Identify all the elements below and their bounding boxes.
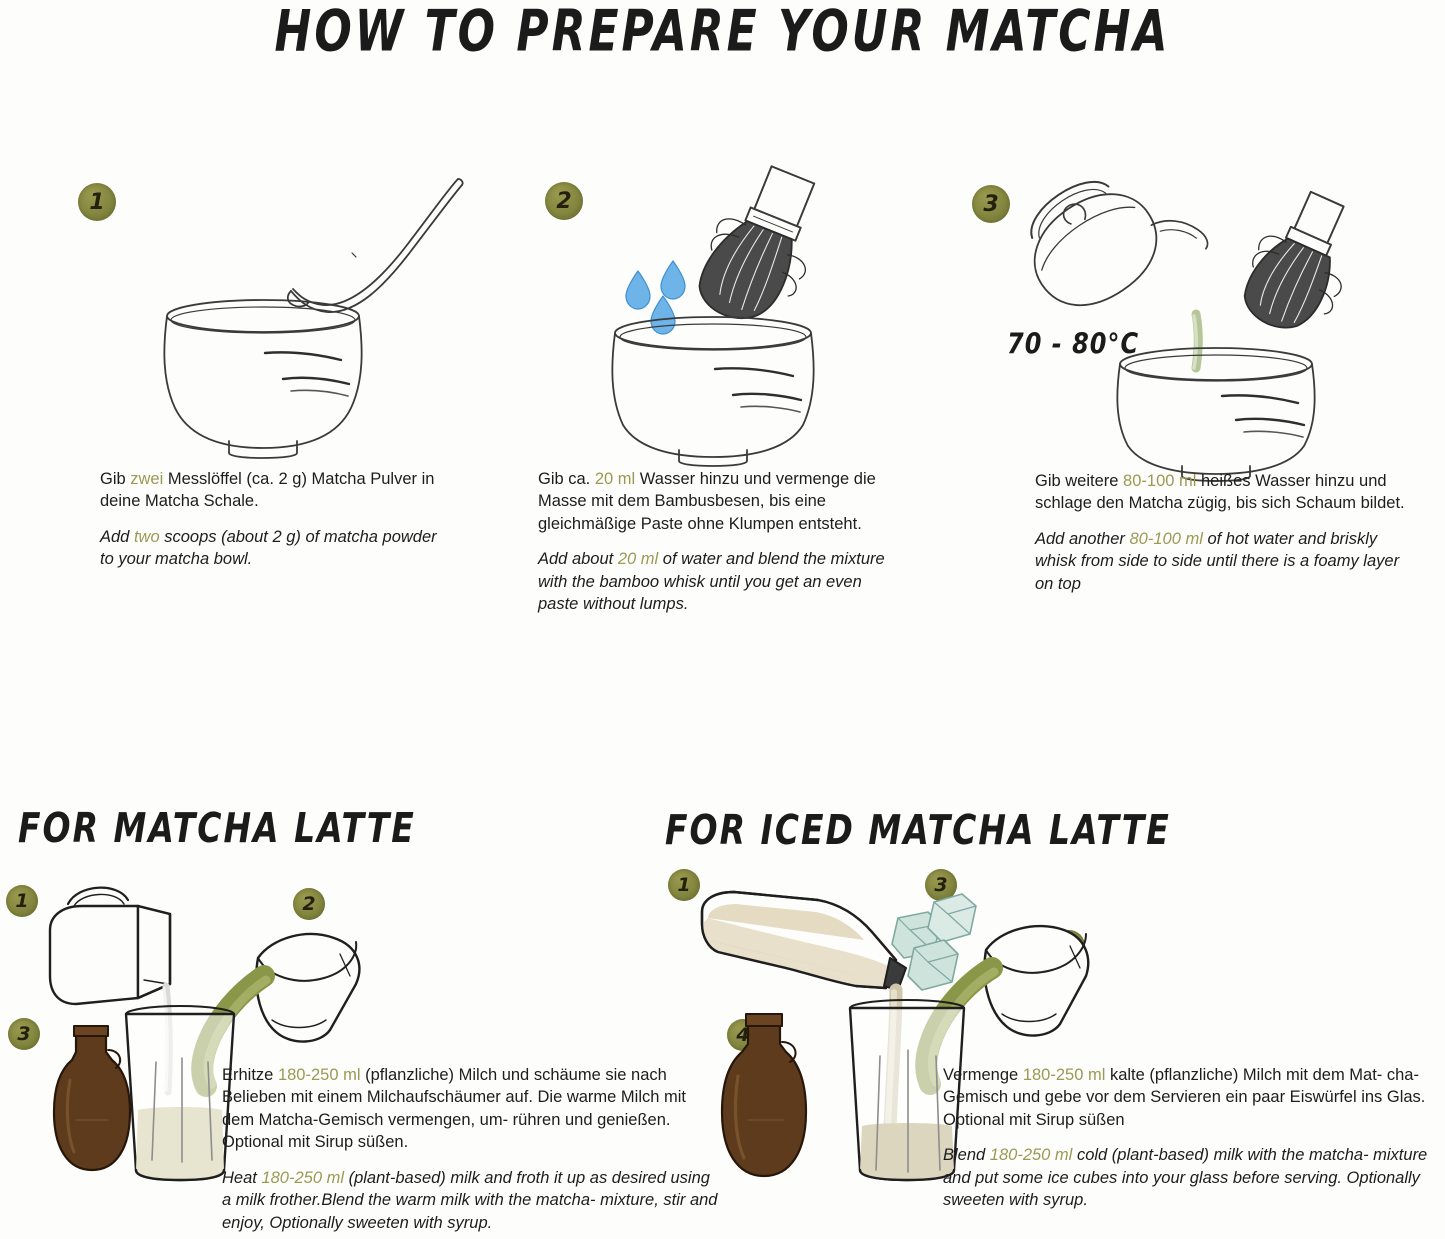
step-3-number: 3: [983, 192, 998, 217]
matcha-bowl-pour-icon: [256, 934, 359, 1041]
step-3-text: Gib weitere 80-100 ml heißes Wasser hinz…: [1035, 470, 1405, 595]
step-1-text: Gib zwei Messlöffel (ca. 2 g) Matcha Pul…: [100, 468, 450, 571]
matcha-bowl-icon: [612, 317, 813, 466]
infographic-page: HOW TO PREPARE YOUR MATCHA 1: [0, 0, 1445, 1239]
step-2-badge: 2: [545, 182, 583, 220]
matcha-bowl-icon: [1117, 348, 1314, 481]
water-stream: [1194, 314, 1198, 368]
matcha-bowl-pour-icon: [984, 926, 1088, 1035]
step-2-text-de: Gib ca. 20 ml Wasser hinzu und vermenge …: [538, 468, 903, 535]
step-1-number: 1: [89, 190, 104, 215]
milk-bottle-icon: [702, 892, 906, 990]
syrup-bottle-icon: [722, 1014, 806, 1176]
bamboo-whisk-icon: [688, 156, 838, 337]
matcha-bowl-icon: [164, 300, 361, 458]
page-title: HOW TO PREPARE YOUR MATCHA: [0, 0, 1445, 65]
bamboo-whisk-icon: [1231, 181, 1372, 345]
step-1-badge: 1: [78, 183, 116, 221]
step-1-text-de: Gib zwei Messlöffel (ca. 2 g) Matcha Pul…: [100, 468, 450, 513]
latte-text-en: Heat 180-250 ml (plant-based) milk and f…: [222, 1167, 722, 1234]
latte-text: Erhitze 180-250 ml (pflanzliche) Milch u…: [222, 1064, 722, 1234]
iced-latte-text-de: Vermenge 180-250 ml kalte (pflanzliche) …: [943, 1064, 1438, 1131]
iced-latte-text: Vermenge 180-250 ml kalte (pflanzliche) …: [943, 1064, 1438, 1212]
milk-jug-icon: [50, 888, 170, 1004]
iced-latte-section-title: FOR ICED MATCHA LATTE: [665, 805, 1171, 854]
temperature-label: 70 - 80°C: [1007, 327, 1139, 361]
step-2-text-en: Add about 20 ml of water and blend the m…: [538, 548, 903, 615]
ice-cube-icon-group: [892, 894, 976, 990]
step-2-text: Gib ca. 20 ml Wasser hinzu und vermenge …: [538, 468, 903, 616]
step-3-badge: 3: [972, 185, 1010, 223]
step-1-text-en: Add two scoops (about 2 g) of matcha pow…: [100, 526, 450, 571]
step-1-illustration: [145, 165, 485, 455]
iced-badge-1-number: 1: [677, 874, 690, 896]
step-3-illustration: [1010, 168, 1380, 458]
bamboo-scoop-icon: [288, 179, 463, 312]
iced-latte-text-en: Blend 180-250 ml cold (plant-based) milk…: [943, 1144, 1438, 1211]
drinking-glass-icon: [126, 1006, 234, 1180]
syrup-bottle-icon: [54, 1026, 130, 1170]
kettle-icon: [1006, 140, 1211, 336]
step-3-text-de: Gib weitere 80-100 ml heißes Wasser hinz…: [1035, 470, 1405, 515]
step-3-text-en: Add another 80-100 ml of hot water and b…: [1035, 528, 1405, 595]
latte-text-de: Erhitze 180-250 ml (pflanzliche) Milch u…: [222, 1064, 722, 1154]
latte-section-title: FOR MATCHA LATTE: [18, 803, 416, 852]
step-2-number: 2: [556, 189, 571, 214]
step-2-illustration: [595, 165, 875, 455]
